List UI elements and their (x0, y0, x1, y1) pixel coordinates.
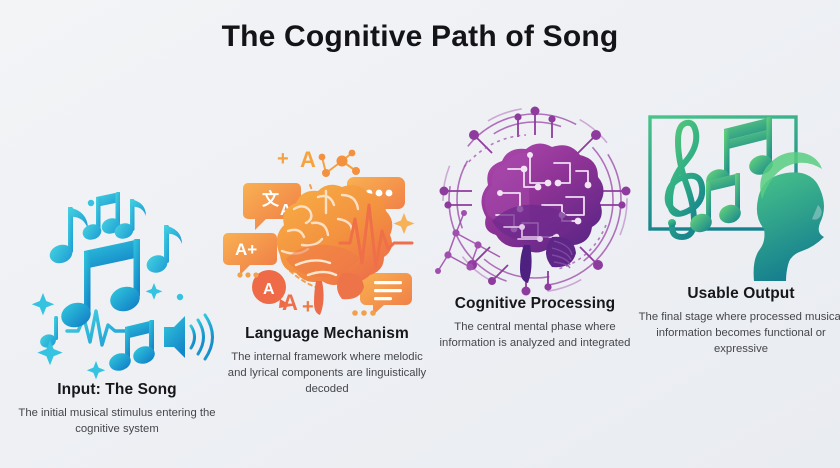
svg-text:+: + (277, 148, 289, 170)
sheet-music-head-profile-icon (636, 95, 840, 285)
orange-brain-language-icon: 文 A A+ A (222, 135, 432, 325)
column-cognitive-processing: Cognitive Processing The central mental … (430, 105, 640, 351)
svg-text:文: 文 (262, 189, 280, 209)
svg-text:A+: A+ (235, 240, 257, 259)
column-heading: Usable Output (636, 285, 840, 303)
column-description: The final stage where processed musical … (636, 309, 840, 357)
column-heading: Cognitive Processing (430, 295, 640, 313)
svg-text:+: + (302, 296, 314, 318)
svg-text:A: A (263, 281, 275, 298)
column-input-the-song: Input: The Song The initial musical stim… (12, 185, 222, 437)
column-heading: Input: The Song (12, 381, 222, 399)
infographic-canvas: The Cognitive Path of Song (0, 0, 840, 468)
column-usable-output: Usable Output The final stage where proc… (636, 95, 840, 357)
column-description: The initial musical stimulus entering th… (12, 405, 222, 437)
music-notes-waveform-icon (12, 185, 222, 375)
column-heading: Language Mechanism (222, 325, 432, 343)
column-description: The internal framework where melodic and… (222, 349, 432, 397)
svg-text:A: A (282, 290, 298, 315)
svg-text:A: A (300, 147, 316, 172)
page-title: The Cognitive Path of Song (0, 20, 840, 54)
column-language-mechanism: 文 A A+ A (222, 135, 432, 397)
purple-circuit-brain-icon (430, 105, 640, 295)
column-description: The central mental phase where informati… (430, 319, 640, 351)
